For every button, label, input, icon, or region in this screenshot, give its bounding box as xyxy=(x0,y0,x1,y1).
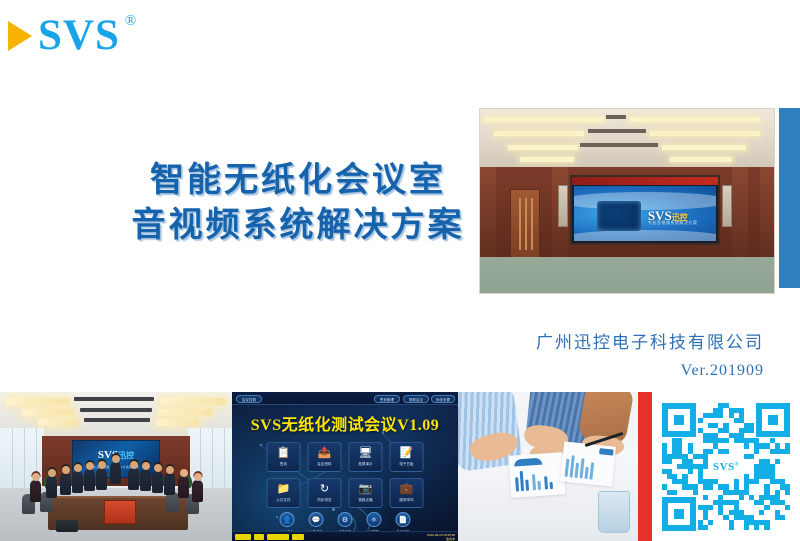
photo-conference-room: SVS迅控 专业音视频系统解决方案提供商 xyxy=(0,392,232,541)
person-icon: 👤 xyxy=(280,512,295,527)
photo-chart-paper xyxy=(560,441,616,486)
tile-syncbrowse[interactable]: ↻ 同步浏览 xyxy=(308,478,342,508)
render-globe-graphic xyxy=(597,201,641,231)
software-tile-grid: 📋 签到 📤 会议资料 🖥 投屏演示 📝 电子白板 📁 公共文件 xyxy=(267,442,424,508)
topbar-pill-2[interactable]: 视频会议 xyxy=(403,395,429,403)
render-screen-banner xyxy=(572,177,718,185)
software-statusbar: 2019-09-23 10:25:38 会议中 xyxy=(232,531,458,541)
brand-logo: SVS ® xyxy=(8,14,135,57)
tile-label: 投屏演示 xyxy=(358,461,372,466)
chat-icon: 💬 xyxy=(309,512,324,527)
tile-label: 签到 xyxy=(280,461,287,466)
tile-label: 电子白板 xyxy=(399,461,413,466)
photo-desk-unit xyxy=(56,520,78,532)
tile-label: 同步浏览 xyxy=(317,497,331,502)
qr-finder-top-left xyxy=(662,403,696,437)
render-speaker xyxy=(722,185,732,227)
folder-icon: 📁 xyxy=(277,484,291,495)
topbar-pill-0[interactable]: 会议控制 xyxy=(236,395,262,403)
company-block: 广州迅控电子科技有限公司 Ver.201909 xyxy=(400,330,780,380)
render-led-screen: SVS迅控 专业音视频系统解决方案 xyxy=(570,175,720,245)
render-ceiling xyxy=(480,109,774,171)
file-upload-icon: 📤 xyxy=(318,448,332,459)
qr-code[interactable]: SVS® xyxy=(662,403,790,531)
bottom-image-strip: SVS迅控 专业音视频系统解决方案提供商 xyxy=(0,392,800,541)
camera-icon: 📷 xyxy=(359,484,373,495)
settings-icon: ⚙ xyxy=(338,512,353,527)
tile-service[interactable]: 💼 服务呼叫 xyxy=(390,478,424,508)
screen-share-icon: 🖥 xyxy=(359,448,373,459)
clipboard-icon: 📋 xyxy=(277,448,291,459)
qr-center-brand: SVS® xyxy=(708,458,744,476)
hero-conference-room-render: SVS迅控 专业音视频系统解决方案 xyxy=(479,108,775,294)
briefcase-icon: 💼 xyxy=(400,484,414,495)
tile-whiteboard[interactable]: 📝 电子白板 xyxy=(390,442,424,472)
photo-team-charts xyxy=(458,392,638,541)
software-app-title: SVS无纸化测试会议V1.09 xyxy=(232,411,458,435)
software-ui-panel: 会议控制 签到管理 视频会议 系统设置 SVS无纸化测试会议V1.09 📋 签到… xyxy=(232,392,458,541)
slide-root: SVS ® xyxy=(0,0,800,541)
qr-code-panel: SVS® xyxy=(652,392,800,541)
note-edit-icon: 📝 xyxy=(400,448,414,459)
registered-trademark-icon: ® xyxy=(125,13,136,30)
red-divider xyxy=(638,392,652,541)
version-label: Ver.201909 xyxy=(400,362,764,380)
tile-label: 服务呼叫 xyxy=(399,497,413,502)
qr-finder-bottom-left xyxy=(662,497,696,531)
tile-label: 视频点播 xyxy=(358,497,372,502)
tile-label: 会议资料 xyxy=(317,461,331,466)
document-icon: 📄 xyxy=(396,512,411,527)
title-line-2: 音视频系统解决方案 xyxy=(112,203,484,248)
tile-screenshare[interactable]: 🖥 投屏演示 xyxy=(349,442,383,472)
tile-publicfiles[interactable]: 📁 公共文件 xyxy=(267,478,301,508)
company-name: 广州迅控电子科技有限公司 xyxy=(400,330,764,356)
page-title: 智能无纸化会议室 音视频系统解决方案 xyxy=(112,158,484,248)
accent-bar xyxy=(779,108,800,288)
render-speaker xyxy=(558,185,568,227)
tile-signin[interactable]: 📋 签到 xyxy=(267,442,301,472)
topbar-pill-1[interactable]: 签到管理 xyxy=(374,395,400,403)
tile-label: 公共文件 xyxy=(276,497,290,502)
software-topbar: 会议控制 签到管理 视频会议 系统设置 xyxy=(232,392,458,405)
render-floor xyxy=(480,257,774,293)
play-triangle-icon xyxy=(8,21,32,51)
photo-water-glass xyxy=(598,491,630,533)
tile-video[interactable]: 📷 视频点播 xyxy=(349,478,383,508)
title-line-1: 智能无纸化会议室 xyxy=(112,158,484,203)
refresh-icon: ↻ xyxy=(320,484,329,495)
render-door xyxy=(510,189,540,259)
qr-finder-top-right xyxy=(756,403,790,437)
tile-materials[interactable]: 📤 会议资料 xyxy=(308,442,342,472)
topbar-pill-3[interactable]: 系统设置 xyxy=(431,395,455,403)
share-icon: ⚛ xyxy=(367,512,382,527)
logo-wordmark: SVS xyxy=(38,14,120,57)
photo-screen-device xyxy=(104,500,136,524)
render-screen-subtitle: 专业音视频系统解决方案 xyxy=(648,220,698,226)
photo-chart-paper xyxy=(509,452,566,498)
status-state: 会议中 xyxy=(446,537,455,541)
